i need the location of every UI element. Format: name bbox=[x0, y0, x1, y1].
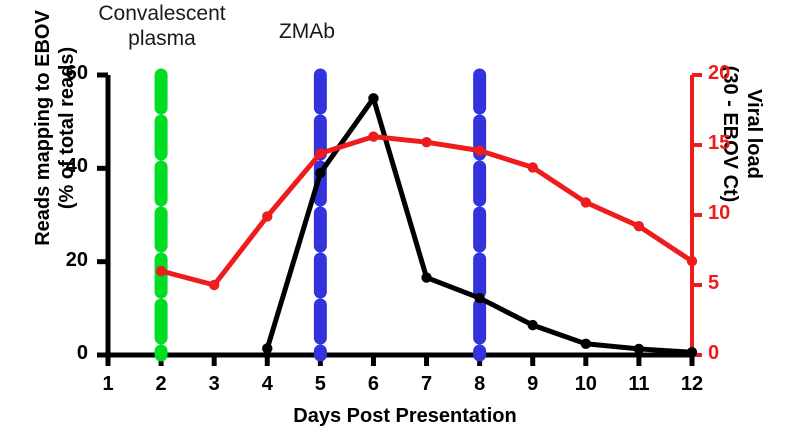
series-data-point bbox=[528, 162, 538, 172]
y-axis-left-tick-label: 60 bbox=[42, 62, 88, 85]
series-data-point bbox=[687, 347, 697, 357]
x-axis-tick-label: 11 bbox=[619, 373, 659, 396]
x-axis-tick-label: 10 bbox=[566, 373, 606, 396]
series-data-point bbox=[687, 256, 697, 266]
x-axis-tick-label: 12 bbox=[672, 373, 712, 396]
series-data-point bbox=[368, 131, 378, 141]
y-axis-right-tick-label: 5 bbox=[708, 272, 754, 295]
x-axis-tick-label: 2 bbox=[141, 373, 181, 396]
series-data-point bbox=[315, 168, 325, 178]
x-axis-tick-label: 1 bbox=[88, 373, 128, 396]
x-axis-tick-label: 6 bbox=[353, 373, 393, 396]
x-axis-tick-label: 5 bbox=[300, 373, 340, 396]
x-axis-tick-label: 4 bbox=[247, 373, 287, 396]
series-data-point bbox=[156, 266, 166, 276]
y-axis-right-tick-label: 15 bbox=[708, 132, 754, 155]
series-data-point bbox=[528, 320, 538, 330]
y-axis-left-tick-label: 20 bbox=[42, 249, 88, 272]
annotation-zmab: ZMAb bbox=[222, 20, 392, 45]
series-data-point bbox=[581, 197, 591, 207]
axes-layer bbox=[97, 75, 702, 366]
vertical-markers-layer bbox=[161, 75, 480, 355]
series-data-point bbox=[581, 339, 591, 349]
x-axis-tick-label: 3 bbox=[194, 373, 234, 396]
series-data-point bbox=[474, 145, 484, 155]
y-axis-right-tick-label: 20 bbox=[708, 62, 754, 85]
series-data-point bbox=[262, 343, 272, 353]
x-axis-tick-label: 8 bbox=[460, 373, 500, 396]
y-axis-left-title: Reads mapping to EBOV (% of total reads) bbox=[31, 0, 79, 278]
series-data-point bbox=[368, 93, 378, 103]
series-data-point bbox=[315, 148, 325, 158]
series-data-point bbox=[634, 221, 644, 231]
series-data-point bbox=[634, 344, 644, 354]
x-axis-title: Days Post Presentation bbox=[240, 405, 570, 428]
x-axis-tick-label: 7 bbox=[407, 373, 447, 396]
series-line bbox=[161, 137, 692, 285]
series-data-point bbox=[474, 293, 484, 303]
series-data-point bbox=[421, 272, 431, 282]
series-data-point bbox=[209, 280, 219, 290]
y-axis-left-tick-label: 0 bbox=[42, 342, 88, 365]
series-data-point bbox=[421, 137, 431, 147]
series-data-point bbox=[262, 211, 272, 221]
x-axis-tick-label: 9 bbox=[513, 373, 553, 396]
y-axis-left-tick-label: 40 bbox=[42, 155, 88, 178]
data-series-layer bbox=[156, 93, 697, 357]
y-axis-right-tick-label: 10 bbox=[708, 202, 754, 225]
figure-container: Convalescent plasma ZMAb Reads mapping t… bbox=[0, 0, 787, 438]
y-axis-right-tick-label: 0 bbox=[708, 342, 754, 365]
